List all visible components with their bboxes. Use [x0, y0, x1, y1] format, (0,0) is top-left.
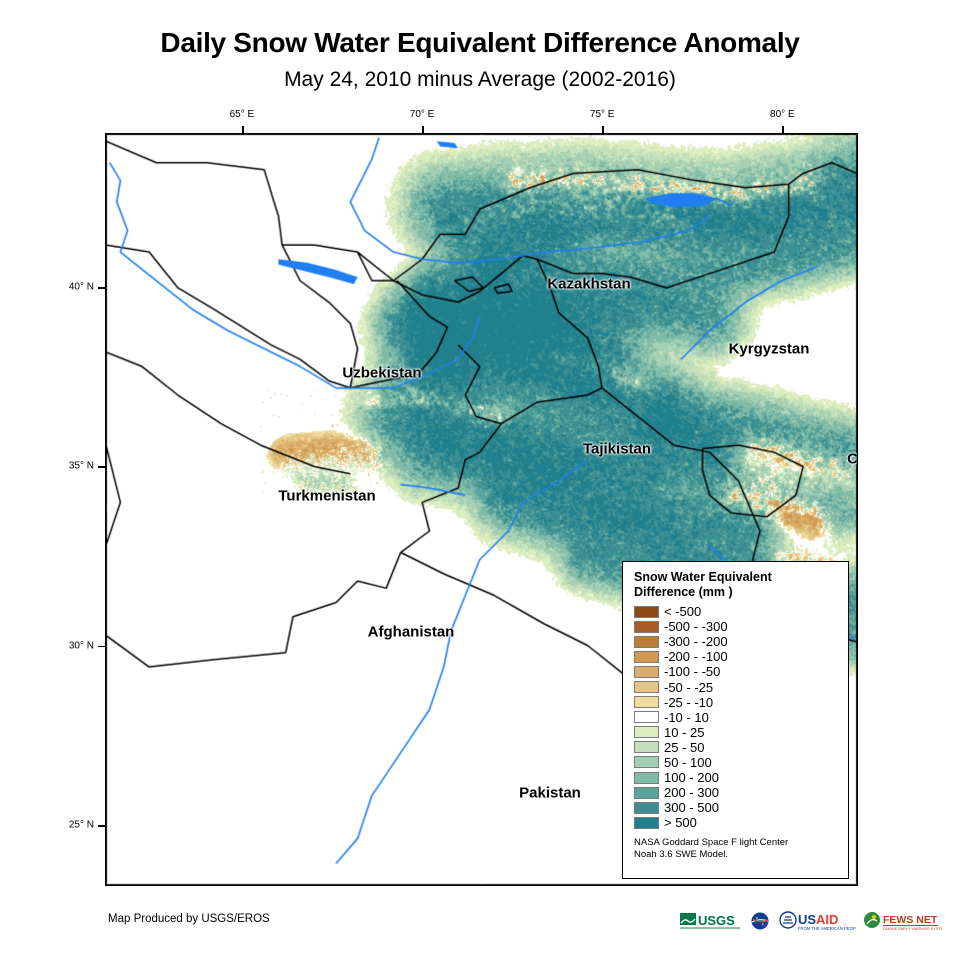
svg-text:US: US: [798, 912, 816, 927]
legend-row: 200 - 300: [634, 785, 839, 800]
legend-title-line-2: Difference (mm ): [634, 585, 839, 600]
legend-source-line-2: Noah 3.6 SWE Model.: [634, 849, 839, 861]
legend-label: > 500: [664, 816, 697, 829]
y-tick-label-35: 35° N: [68, 461, 94, 472]
legend-row: -10 - 10: [634, 710, 839, 725]
svg-text:AID: AID: [816, 912, 838, 927]
producer-credit: Map Produced by USGS/EROS: [108, 913, 270, 925]
country-label-kyrgyzstan: Kyrgyzstan: [729, 341, 810, 358]
y-tick-35: [98, 466, 105, 468]
legend-swatch: [634, 772, 659, 784]
legend-row: 10 - 25: [634, 725, 839, 740]
usaid-logo: US AID FROM THE AMERICAN PEOPLE: [778, 911, 856, 931]
legend-row: -50 - -25: [634, 679, 839, 694]
nasa-logo: [748, 911, 772, 931]
legend-source-note: NASA Goddard Space F light Center Noah 3…: [634, 837, 839, 861]
legend-label: < -500: [664, 605, 701, 618]
legend-swatch: [634, 741, 659, 753]
y-tick-40: [98, 287, 105, 289]
page-subtitle: May 24, 2010 minus Average (2002-2016): [0, 68, 960, 92]
legend-swatch: [634, 787, 659, 799]
legend-row: -25 - -10: [634, 695, 839, 710]
svg-text:FAMINE EARLY WARNING SYSTEMS N: FAMINE EARLY WARNING SYSTEMS NETWORK: [883, 927, 942, 931]
legend-swatch: [634, 711, 659, 723]
legend-swatch: [634, 666, 659, 678]
legend-label: 200 - 300: [664, 786, 719, 799]
legend-swatch: [634, 756, 659, 768]
legend-label: 25 - 50: [664, 741, 704, 754]
x-tick-label-75: 75° E: [590, 109, 615, 120]
legend-row: -100 - -50: [634, 664, 839, 679]
svg-text:FROM THE AMERICAN PEOPLE: FROM THE AMERICAN PEOPLE: [798, 926, 856, 931]
legend-label: 10 - 25: [664, 726, 704, 739]
legend-swatch: [634, 651, 659, 663]
usgs-logo: USGS: [680, 911, 742, 931]
legend-label: 300 - 500: [664, 801, 719, 814]
x-tick-75: [602, 126, 604, 133]
legend-class-list: < -500-500 - -300-300 - -200-200 - -100-…: [634, 604, 839, 830]
svg-text:USGS: USGS: [698, 913, 735, 928]
y-tick-label-30: 30° N: [68, 640, 94, 651]
legend-swatch: [634, 621, 659, 633]
country-label-pakistan: Pakistan: [519, 785, 581, 802]
svg-text:FEWS NET: FEWS NET: [883, 914, 938, 926]
legend-label: 100 - 200: [664, 771, 719, 784]
logo-strip: USGS US AID FROM THE AMERICAN PEOPLE: [680, 908, 942, 934]
y-tick-label-25: 25° N: [68, 820, 94, 831]
x-tick-label-80: 80° E: [770, 109, 795, 120]
legend-swatch: [634, 606, 659, 618]
fewsnet-logo: FEWS NET FAMINE EARLY WARNING SYSTEMS NE…: [862, 911, 942, 931]
country-label-kazakhstan: Kazakhstan: [547, 276, 630, 293]
country-label-china: China: [847, 451, 858, 468]
y-tick-label-40: 40° N: [68, 282, 94, 293]
x-tick-65: [242, 126, 244, 133]
legend-label: -200 - -100: [664, 650, 728, 663]
map-legend: Snow Water Equivalent Difference (mm ) <…: [622, 561, 849, 879]
country-label-tajikistan: Tajikistan: [583, 441, 651, 458]
country-label-uzbekistan: Uzbekistan: [342, 365, 421, 382]
legend-row: -300 - -200: [634, 634, 839, 649]
legend-swatch: [634, 817, 659, 829]
legend-swatch: [634, 726, 659, 738]
legend-swatch: [634, 681, 659, 693]
legend-title-line-1: Snow Water Equivalent: [634, 570, 839, 585]
x-tick-label-65: 65° E: [230, 109, 255, 120]
x-tick-80: [782, 126, 784, 133]
legend-label: -50 - -25: [664, 681, 713, 694]
country-label-afghanistan: Afghanistan: [368, 624, 455, 641]
legend-row: 25 - 50: [634, 740, 839, 755]
legend-label: 50 - 100: [664, 756, 712, 769]
legend-row: 300 - 500: [634, 800, 839, 815]
legend-row: > 500: [634, 815, 839, 830]
y-tick-25: [98, 825, 105, 827]
page-title: Daily Snow Water Equivalent Difference A…: [0, 27, 960, 59]
legend-row: -200 - -100: [634, 649, 839, 664]
legend-row: < -500: [634, 604, 839, 619]
legend-label: -100 - -50: [664, 665, 720, 678]
legend-row: -500 - -300: [634, 619, 839, 634]
map-page: Daily Snow Water Equivalent Difference A…: [0, 0, 960, 960]
legend-label: -10 - 10: [664, 711, 709, 724]
x-tick-70: [422, 126, 424, 133]
legend-label: -300 - -200: [664, 635, 728, 648]
y-tick-30: [98, 646, 105, 648]
legend-source-line-1: NASA Goddard Space F light Center: [634, 837, 839, 849]
legend-label: -500 - -300: [664, 620, 728, 633]
country-label-turkmenistan: Turkmenistan: [278, 488, 375, 505]
legend-row: 100 - 200: [634, 770, 839, 785]
legend-label: -25 - -10: [664, 696, 713, 709]
legend-swatch: [634, 636, 659, 648]
legend-swatch: [634, 696, 659, 708]
legend-title: Snow Water Equivalent Difference (mm ): [634, 570, 839, 600]
legend-swatch: [634, 802, 659, 814]
legend-row: 50 - 100: [634, 755, 839, 770]
x-tick-label-70: 70° E: [410, 109, 435, 120]
